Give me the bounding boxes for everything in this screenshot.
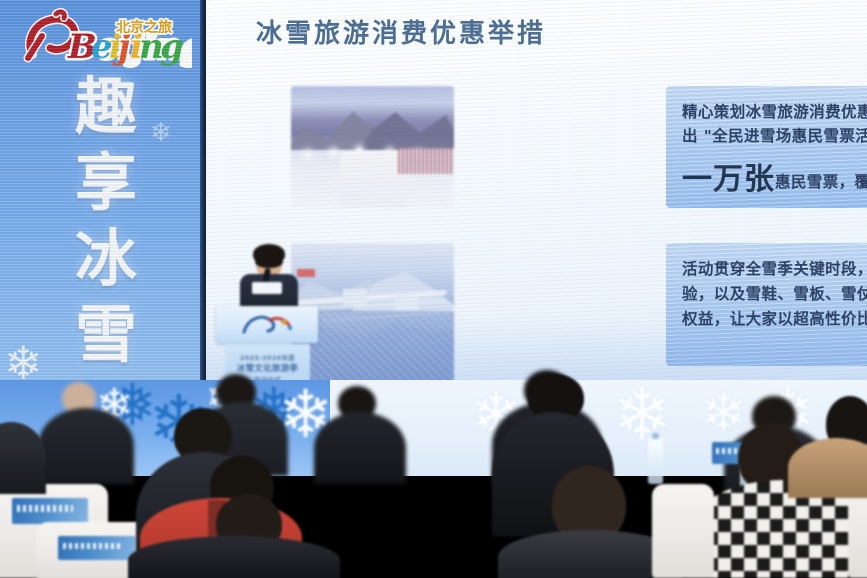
block2-line-1: 活动贯穿全雪季关键时段，每张惠民雪票均包含4小时 <box>682 257 867 282</box>
vertical-slogan: 趣 享 冰 雪 <box>58 76 154 380</box>
chair-placard <box>12 498 88 524</box>
audience-body <box>788 438 867 498</box>
audience-body <box>314 412 406 484</box>
block1-line-1: 精心策划冰雪旅游消费优惠举措。整合全区优质文旅 <box>682 100 867 124</box>
slogan-char-3: 冰 <box>75 228 137 290</box>
block1-highlight-row: 一万张惠民雪票，覆盖军都山、静之湖、华彬 <box>682 154 867 198</box>
audience-body <box>128 536 340 578</box>
ski-slope-photo <box>291 86 454 208</box>
snowflake-icon: ❄ <box>612 378 672 450</box>
snowflake-icon: ❄ <box>700 386 747 442</box>
snowflake-icon: ❄ <box>150 120 172 146</box>
highlight-number: 一万张 <box>682 162 775 197</box>
chair-back <box>652 484 714 578</box>
block1-line-2: 出 "全民进雪场惠民雪票活动" <box>682 124 867 148</box>
presenter-hair <box>253 244 285 264</box>
slogan-char-1: 趣 <box>75 76 137 138</box>
block2-line-3: 权益，让大家以超高性价比尽享滑雪乐趣。 <box>682 307 867 332</box>
highlight-rest: 惠民雪票，覆盖军都山、静之湖、华彬 <box>775 173 867 191</box>
seated-audience: ❅ ❄ ❅ ❄ ❄ ❄ ❄ ❄ ❄ ❄ ❄ <box>0 380 867 578</box>
benefit-ticket-block: 精心策划冰雪旅游消费优惠举措。整合全区优质文旅 出 "全民进雪场惠民雪票活动" … <box>666 86 867 208</box>
water-bottle <box>648 438 663 484</box>
chair-placard <box>58 536 136 560</box>
placard-text <box>17 505 73 512</box>
presenter <box>238 246 300 310</box>
slogan-char-4: 雪 <box>75 304 137 366</box>
audience-body <box>38 408 134 484</box>
placard-text <box>63 543 121 549</box>
svg-text:北京之旅: 北京之旅 <box>116 19 172 36</box>
presenter-notes <box>252 282 282 294</box>
slide-title: 冰雪旅游消费优惠举措 <box>256 13 546 50</box>
bottle-cap <box>652 433 660 439</box>
ticket-details-block: 活动贯穿全雪季关键时段，每张惠民雪票均包含4小时 验，以及雪鞋、雪板、雪仗等全套… <box>666 243 867 366</box>
photo-grain <box>291 86 454 208</box>
beijing-tourism-logo: Beijing B e i j i n g 北京之旅 北京之旅 <box>12 6 192 72</box>
snow-season-emblem-icon <box>240 314 294 340</box>
conference-scene: Beijing B e i j i n g 北京之旅 北京之旅 趣 享 冰 雪 <box>0 0 867 578</box>
slogan-char-2: 享 <box>75 152 137 214</box>
podium-top <box>216 306 318 343</box>
block2-line-2: 验，以及雪鞋、雪板、雪仗等全套装备租赁与运力 <box>682 282 867 307</box>
podium-line-1: 2025-2026年度 <box>225 354 310 363</box>
